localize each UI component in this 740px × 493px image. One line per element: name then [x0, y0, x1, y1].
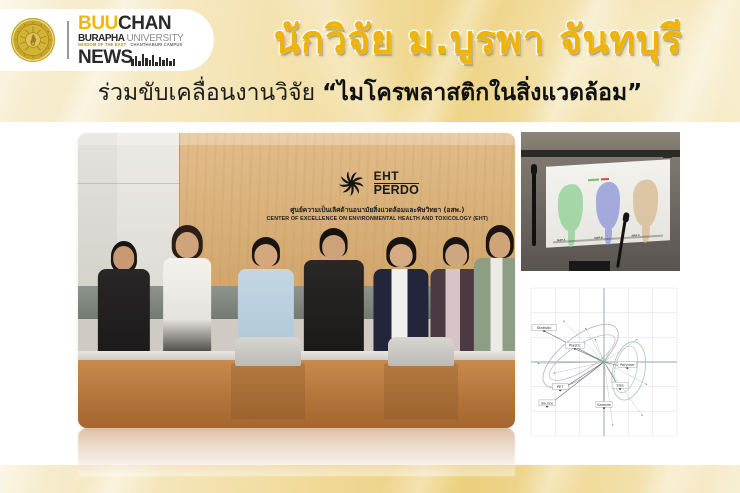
slide-stripe-red [601, 178, 610, 181]
wordmark-line-4: NEWS [78, 49, 184, 67]
subtitle-quoted-topic: “ไมโครพลาสติกในสิ่งแวดล้อม” [322, 75, 642, 111]
wordmark-line-1: BUUCHAN [78, 14, 184, 33]
photo-wall-seam [78, 183, 179, 184]
reflection-fade [78, 428, 515, 476]
brand-logo-pill: S BUUCHAN BURAPHA UNIVERSITY WISDOM OF T… [0, 9, 214, 71]
sign-acronym: EHT PERDO [374, 171, 419, 196]
projector-dark-band [521, 150, 680, 157]
photo-chair-2 [384, 363, 458, 419]
person-7 [471, 225, 515, 360]
svg-text:Plastic: Plastic [569, 344, 581, 348]
pca-biplot-photo[interactable]: StatisticPlasticPETSourceSamplePolymerSi… [521, 278, 687, 446]
city-skyline-icon [131, 53, 175, 66]
person-2-head [176, 232, 199, 258]
svg-text:PET: PET [557, 385, 564, 389]
person-2-body [163, 258, 211, 361]
projector-slide: MAP A MAP B MAP C [546, 159, 670, 247]
pill-divider [67, 21, 69, 59]
svg-text:Polymer: Polymer [620, 363, 635, 367]
projector-screen-photo[interactable]: MAP A MAP B MAP C [521, 132, 680, 271]
projector-podium [569, 261, 610, 271]
projector-wall-tag [663, 154, 672, 158]
poster-canvas: S BUUCHAN BURAPHA UNIVERSITY WISDOM OF T… [0, 0, 740, 493]
headline: นักวิจัย ม.บูรพา จันทบุรี [228, 16, 728, 64]
wordmark-news: NEWS [78, 49, 133, 67]
person-1-head [113, 246, 135, 270]
subtitle-lead-text: ร่วมขับเคลื่อนงานวิจัย [98, 75, 315, 111]
biplot-labels: StatisticPlasticPETSourceSamplePolymerSi… [532, 324, 637, 407]
svg-text:Size: Size [616, 384, 624, 388]
person-2 [157, 225, 218, 360]
headline-text: นักวิจัย ม.บูรพา จันทบุรี [274, 9, 683, 71]
sign-english-name: CENTER OF EXCELLENCE ON ENVIRONMENTAL HE… [253, 216, 502, 222]
slide-thailand-map-3 [633, 179, 658, 227]
wordmark-buu: BUU [78, 13, 118, 34]
sign-logo-row: EHT PERDO [253, 168, 502, 199]
main-photo-reflection [78, 428, 515, 476]
buuchan-news-wordmark: BUUCHAN BURAPHA UNIVERSITY WISDOM OF THE… [78, 13, 184, 67]
person-4-head [322, 235, 346, 259]
slide-thailand-map-2 [596, 181, 621, 229]
photo-chair-1 [231, 363, 305, 419]
sign-thai-name: ศูนย์ความเป็นเลิศด้านอนามัยสิ่งแวดล้อมแล… [253, 206, 502, 214]
person-1-body [98, 269, 150, 360]
person-6-head [445, 244, 467, 267]
slide-thailand-map-1 [559, 183, 584, 231]
microphone-left-icon [532, 171, 536, 246]
wall-sign: EHT PERDO ศูนย์ความเป็นเลิศด้านอนามัยสิ่… [253, 168, 502, 221]
person-7-body [474, 258, 515, 361]
person-1 [95, 241, 152, 361]
person-4-body [303, 260, 363, 360]
svg-text:Sample: Sample [597, 403, 611, 407]
svg-text:Statistic: Statistic [537, 326, 552, 330]
person-7-head [489, 232, 511, 258]
svg-text:Source: Source [541, 401, 554, 405]
main-group-photo[interactable]: EHT PERDO ศูนย์ความเป็นเลิศด้านอนามัยสิ่… [78, 133, 515, 428]
buu-university-seal-icon: S [10, 17, 56, 63]
sign-acronym-perdo: PERDO [374, 184, 419, 196]
person-3-head [254, 244, 277, 267]
wordmark-chanthaburi-campus: CHANTHABURI CAMPUS [130, 43, 182, 48]
person-4 [301, 228, 367, 360]
photo-ceiling-trim [78, 133, 515, 145]
pca-biplot-svg: StatisticPlasticPETSourceSamplePolymerSi… [521, 278, 687, 446]
eht-perdo-pinwheel-logo-icon [336, 168, 367, 199]
wordmark-chan: CHAN [118, 13, 171, 34]
slide-stripe-green [589, 178, 600, 181]
person-5-head [390, 244, 413, 267]
subtitle: ร่วมขับเคลื่อนงานวิจัย “ไมโครพลาสติกในสิ… [0, 74, 740, 112]
